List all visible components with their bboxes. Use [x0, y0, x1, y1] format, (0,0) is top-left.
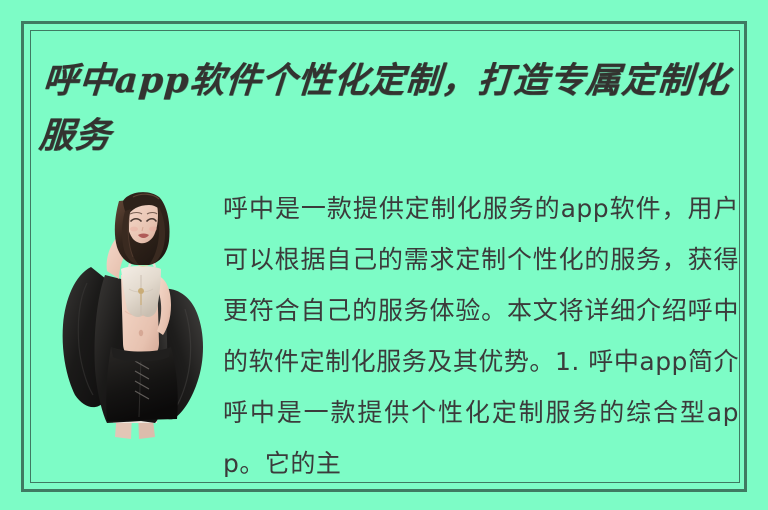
- poster-canvas: 呼中app软件个性化定制，打造专属定制化服务: [0, 0, 768, 510]
- article-title: 呼中app软件个性化定制，打造专属定制化服务: [37, 53, 735, 163]
- article-body: 呼中是一款提供定制化服务的app软件，用户可以根据自己的需求定制个性化的服务，获…: [223, 183, 739, 482]
- content-area: 呼中app软件个性化定制，打造专属定制化服务: [31, 31, 739, 482]
- person-cutout-graphic: [45, 171, 223, 447]
- article-illustration: [45, 171, 223, 447]
